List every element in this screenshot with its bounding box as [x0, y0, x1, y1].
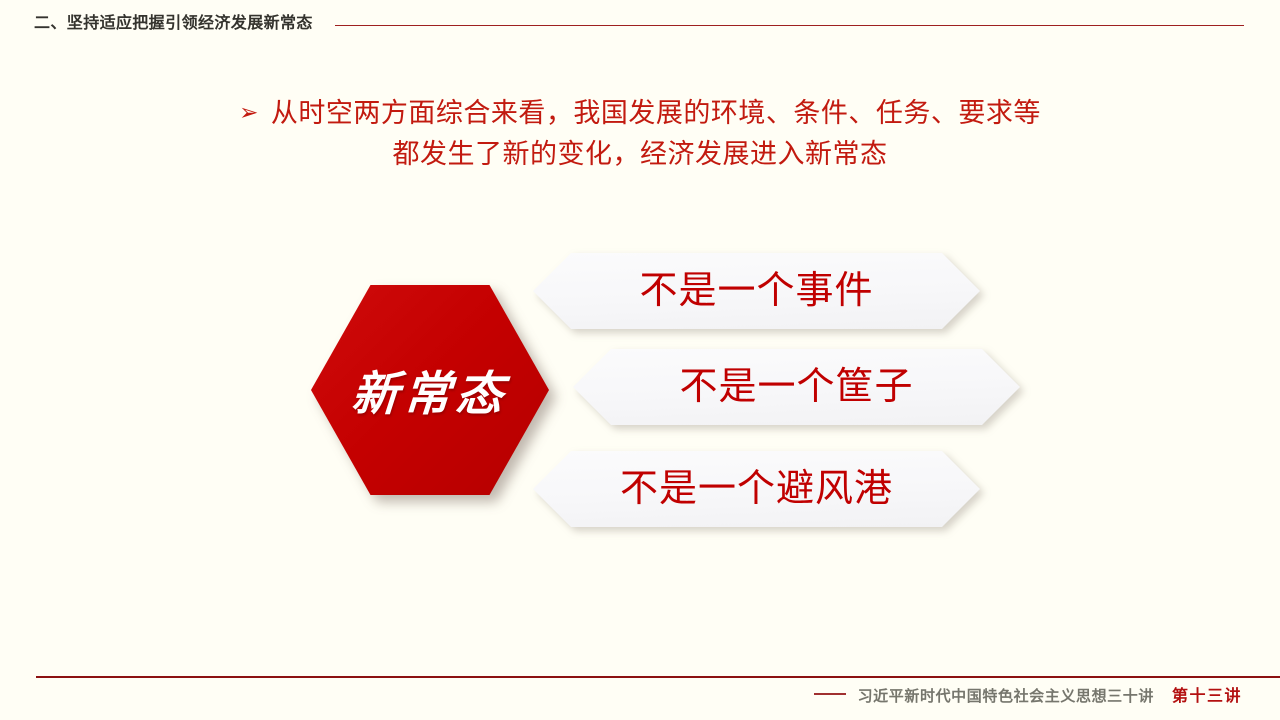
footer-series-title: 习近平新时代中国特色社会主义思想三十讲	[858, 685, 1154, 706]
page-title: 二、坚持适应把握引领经济发展新常态	[34, 16, 313, 32]
chevron-item-1: 不是一个事件	[533, 253, 980, 329]
chevron-item-2: 不是一个筐子	[573, 349, 1020, 425]
header-divider	[335, 25, 1244, 26]
footer-dash-icon	[814, 693, 846, 695]
hexagon-label: 新常态	[350, 355, 511, 424]
chevron-label: 不是一个筐子	[679, 368, 913, 406]
slide-footer: 习近平新时代中国特色社会主义思想三十讲 第十三讲	[0, 662, 1280, 720]
bullet-text-1: 从时空两方面综合来看，我国发展的环境、条件、任务、要求等	[271, 98, 1041, 128]
hexagon-shape: 新常态	[311, 285, 549, 495]
bullet-line-2: 都发生了新的变化，经济发展进入新常态	[0, 134, 1280, 175]
footer-lecture-number: 第十三讲	[1172, 682, 1242, 706]
chevron-shape: 不是一个筐子	[573, 349, 1020, 425]
bullet-paragraph: ➢从时空两方面综合来看，我国发展的环境、条件、任务、要求等 都发生了新的变化，经…	[0, 93, 1280, 175]
slide-header: 二、坚持适应把握引领经济发展新常态	[0, 0, 1280, 48]
bullet-line-1: ➢从时空两方面综合来看，我国发展的环境、条件、任务、要求等	[0, 93, 1280, 134]
footer-text-row: 习近平新时代中国特色社会主义思想三十讲 第十三讲	[814, 682, 1242, 706]
chevron-item-3: 不是一个避风港	[533, 451, 980, 527]
chevron-shape: 不是一个事件	[533, 253, 980, 329]
arrow-bullet-icon: ➢	[239, 95, 259, 130]
chevron-label: 不是一个事件	[639, 272, 873, 310]
chevron-label: 不是一个避风港	[620, 470, 893, 508]
chevron-shape: 不是一个避风港	[533, 451, 980, 527]
hexagon-new-normal: 新常态	[311, 285, 549, 495]
footer-divider	[36, 676, 1280, 678]
